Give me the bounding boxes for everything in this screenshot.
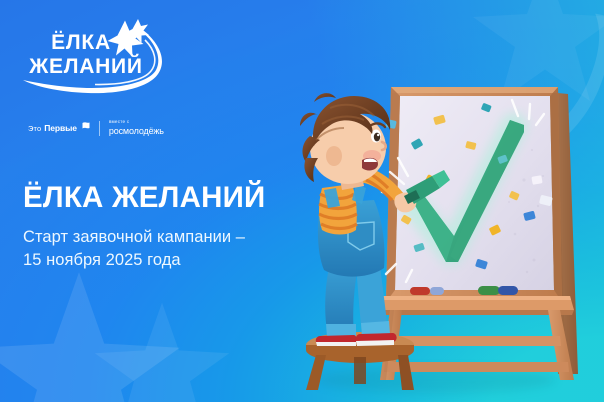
flag-icon <box>81 122 90 135</box>
partner-pervye-prefix: Это <box>28 124 41 133</box>
partner-rosmolodezh: вместе с росмолодёжь <box>109 120 164 135</box>
easel-tray <box>378 296 574 315</box>
illustration-boy-easel <box>286 84 604 402</box>
boy-ear <box>326 146 342 166</box>
partner-rosmolodezh-prefix: вместе с <box>109 120 164 125</box>
promo-banner: ЁЛКА ЖЕЛАНИЙ Это Первые вместе с росмоло… <box>0 0 604 402</box>
partner-logos: Это Первые вместе с росмолодёжь <box>28 118 164 138</box>
partner-rosmolodezh-name: росмолодёжь <box>109 127 164 136</box>
logo-line-1: ЁЛКА <box>51 31 111 54</box>
logo-line-2: ЖЕЛАНИЙ <box>28 54 143 78</box>
brand-logo: ЁЛКА ЖЕЛАНИЙ Это Первые вместе с росмоло… <box>22 18 172 122</box>
partner-pervye-name: Первые <box>44 123 77 133</box>
star-icon <box>108 19 150 57</box>
partner-divider <box>99 121 100 136</box>
partner-pervye: Это Первые <box>28 122 90 135</box>
logo-mark: ЁЛКА ЖЕЛАНИЙ <box>22 18 172 96</box>
boy-cuff-back <box>326 324 356 337</box>
